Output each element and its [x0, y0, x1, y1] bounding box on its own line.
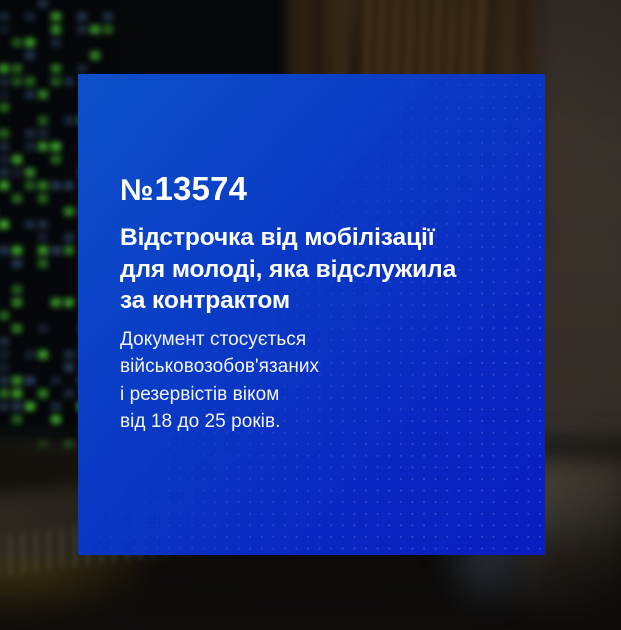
info-card-content: №13574 Відстрочка від мобілізації для мо… [120, 74, 515, 555]
body-line-3: і резервістів віком [120, 381, 515, 408]
headline-line-2: для молоді, яка відслужила [120, 254, 515, 286]
body-line-2: військовозобов'язаних [120, 353, 515, 380]
info-card: №13574 Відстрочка від мобілізації для мо… [78, 74, 545, 555]
body-line-1: Документ стосується [120, 326, 515, 353]
headline-line-1: Відстрочка від мобілізації [120, 222, 515, 254]
document-number-value: 13574 [154, 170, 247, 207]
document-number: №13574 [120, 172, 247, 206]
headline: Відстрочка від мобілізації для молоді, я… [120, 222, 515, 317]
headline-line-3: за контрактом [120, 285, 515, 317]
body-line-4: від 18 до 25 років. [120, 408, 515, 435]
body-copy: Документ стосується військовозобов'язани… [120, 326, 515, 435]
screenshot-canvas: №13574 Відстрочка від мобілізації для мо… [0, 0, 621, 630]
numero-sign: № [120, 174, 154, 207]
